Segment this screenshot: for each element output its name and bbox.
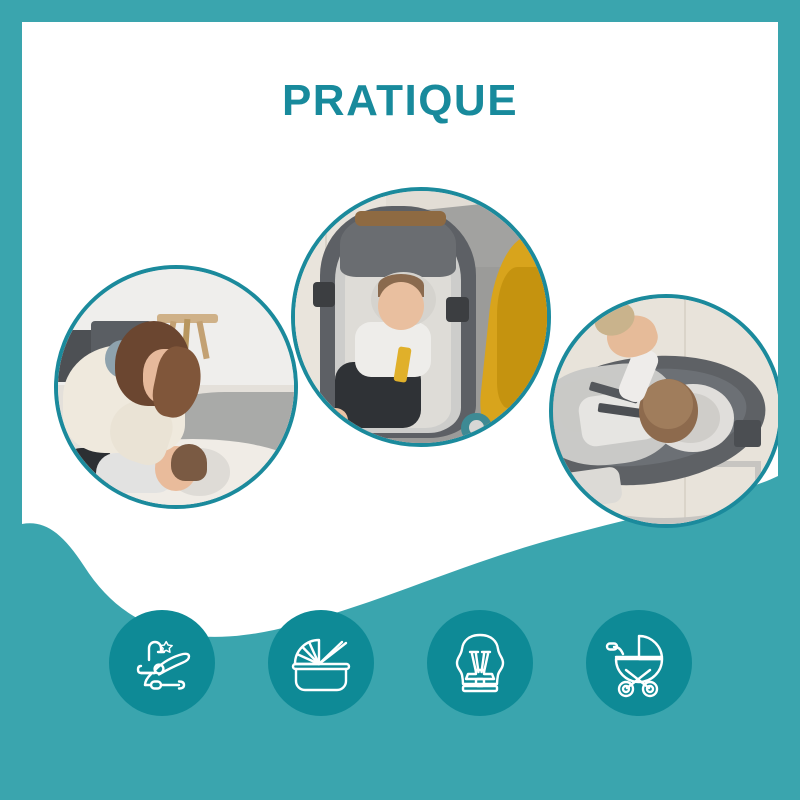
photo-baby-in-bouncer: [549, 294, 778, 528]
photo-baby-in-car-seat-carrier: [291, 187, 551, 447]
poster-root: PRATIQUE: [0, 0, 800, 800]
photo-mother-and-baby-on-play-mat: [54, 265, 298, 509]
page-title: PRATIQUE: [22, 76, 778, 126]
carry-handle-grip: [355, 211, 446, 226]
baby-face: [378, 282, 423, 330]
pram-icon[interactable]: [586, 610, 692, 716]
carrycot-icon[interactable]: [268, 610, 374, 716]
baby-hair: [643, 379, 693, 429]
poster-inner-panel: PRATIQUE: [22, 22, 778, 778]
handle-pivot-left: [313, 282, 336, 307]
mustard-throw-fold: [497, 267, 551, 408]
baby-top: [355, 322, 431, 377]
seat-adjuster-clip: [734, 420, 761, 447]
baby-hair: [171, 444, 206, 482]
scene-bouncer: [553, 298, 778, 524]
scene-car-seat: [295, 191, 547, 443]
car-seat-icon[interactable]: [427, 610, 533, 716]
handle-pivot-right: [446, 297, 469, 322]
baby-foot: [323, 408, 348, 433]
feature-icon-row: [22, 610, 778, 716]
scene-living-room: [58, 269, 294, 505]
baby-bouncer-icon[interactable]: [109, 610, 215, 716]
